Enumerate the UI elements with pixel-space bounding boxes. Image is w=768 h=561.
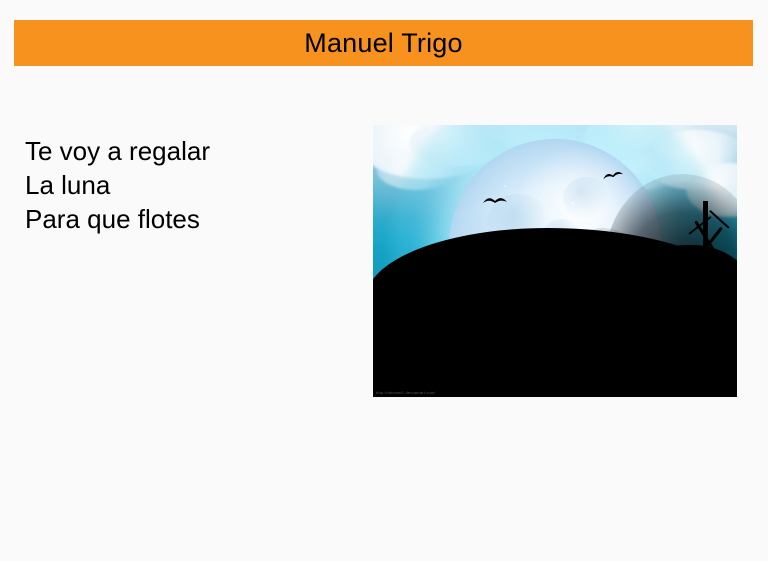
lyric-line-2: La luna: [25, 168, 345, 202]
image-canvas: http://deviant1.deviantart.com/: [373, 125, 737, 397]
slide: Manuel Trigo Te voy a regalar La luna Pa…: [0, 0, 768, 561]
page-title: Manuel Trigo: [304, 30, 462, 57]
dog-silhouette: [413, 270, 439, 294]
image-watermark: http://deviant1.deviantart.com/: [376, 390, 436, 395]
lyrics-block: Te voy a regalar La luna Para que flotes: [25, 134, 345, 236]
ground-silhouette: [373, 288, 737, 397]
figure-with-umbrella-silhouette: [537, 237, 577, 299]
title-banner: Manuel Trigo: [14, 20, 753, 66]
moon-night-image: http://deviant1.deviantart.com/: [373, 125, 737, 397]
bird-icon: [482, 196, 508, 206]
lyric-line-3: Para que flotes: [25, 202, 345, 236]
lyric-line-1: Te voy a regalar: [25, 134, 345, 168]
